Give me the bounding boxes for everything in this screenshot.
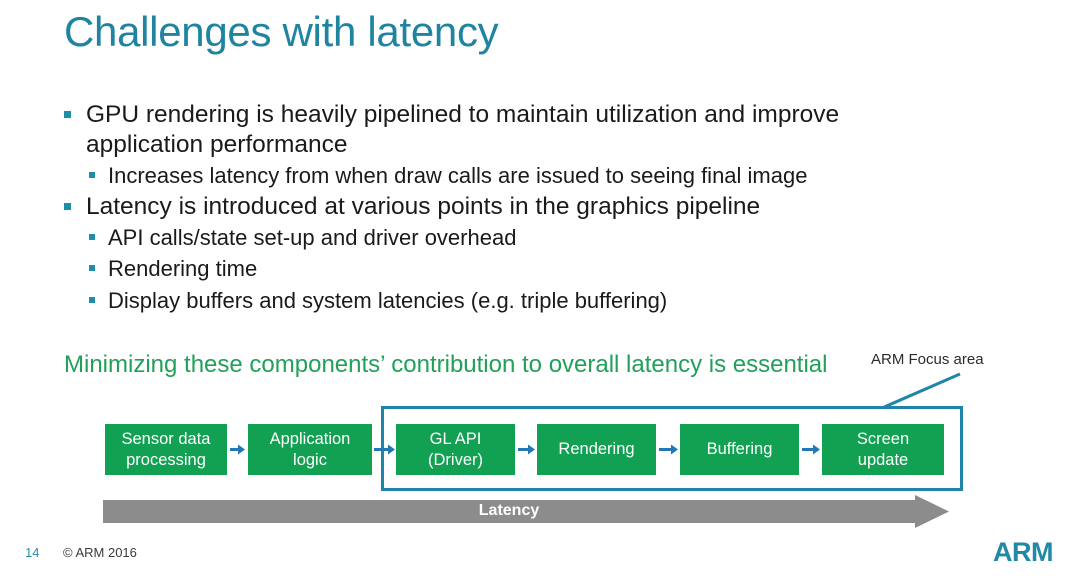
copyright-notice: © ARM 2016	[63, 544, 137, 562]
bullet-item: Display buffers and system latencies (e.…	[89, 285, 944, 317]
bullet-item: GPU rendering is heavily pipelined to ma…	[64, 100, 944, 160]
bullet-text: Display buffers and system latencies (e.…	[108, 285, 944, 317]
bullet-text: GPU rendering is heavily pipelined to ma…	[86, 100, 944, 160]
focus-area-label: ARM Focus area	[871, 350, 984, 370]
pipeline-stage-screen-update[interactable]: Screen update	[822, 424, 944, 475]
bullet-marker-icon	[64, 203, 71, 210]
pipeline-arrow-icon	[374, 443, 395, 456]
slide-canvas: Challenges with latency GPU rendering is…	[0, 0, 1077, 577]
pipeline-stage-gl-api-driver[interactable]: GL API (Driver)	[396, 424, 515, 475]
bullet-marker-icon	[89, 297, 95, 303]
bullet-text: Rendering time	[108, 253, 944, 285]
bullet-marker-icon	[64, 111, 71, 118]
stage-label-line2: processing	[126, 450, 206, 471]
bullet-marker-icon	[89, 265, 95, 271]
pipeline-stage-application-logic[interactable]: Application logic	[248, 424, 372, 475]
pipeline-arrow-icon	[802, 443, 820, 456]
pipeline-arrow-icon	[518, 443, 535, 456]
slide-page-number: 14	[25, 544, 39, 562]
stage-label-line1: Buffering	[707, 439, 773, 460]
stage-label-line2: (Driver)	[428, 450, 483, 471]
bullet-marker-icon	[89, 172, 95, 178]
pipeline-stage-buffering[interactable]: Buffering	[680, 424, 799, 475]
bullet-list: GPU rendering is heavily pipelined to ma…	[64, 100, 944, 316]
bullet-item: Latency is introduced at various points …	[64, 192, 944, 222]
bullet-text: API calls/state set-up and driver overhe…	[108, 222, 944, 254]
latency-arrow-icon	[103, 495, 949, 528]
emphasis-statement: Minimizing these components’ contributio…	[64, 350, 828, 380]
stage-label-line1: GL API	[430, 429, 482, 450]
stage-label-line1: Sensor data	[122, 429, 211, 450]
arm-logo: ARM	[993, 536, 1053, 568]
bullet-text: Increases latency from when draw calls a…	[108, 160, 944, 192]
stage-label-line1: Screen	[857, 429, 909, 450]
bullet-text: Latency is introduced at various points …	[86, 192, 944, 222]
bullet-item: API calls/state set-up and driver overhe…	[89, 222, 944, 254]
pipeline-stage-rendering[interactable]: Rendering	[537, 424, 656, 475]
bullet-marker-icon	[89, 234, 95, 240]
pipeline-stage-sensor-data-processing[interactable]: Sensor data processing	[105, 424, 227, 475]
stage-label-line1: Application	[270, 429, 351, 450]
pipeline-arrow-icon	[659, 443, 678, 456]
pipeline-arrow-icon	[230, 443, 245, 456]
page-title: Challenges with latency	[64, 4, 498, 60]
bullet-item: Rendering time	[89, 253, 944, 285]
bullet-item: Increases latency from when draw calls a…	[89, 160, 944, 192]
stage-label-line2: update	[858, 450, 908, 471]
stage-label-line2: logic	[293, 450, 327, 471]
stage-label-line1: Rendering	[558, 439, 634, 460]
